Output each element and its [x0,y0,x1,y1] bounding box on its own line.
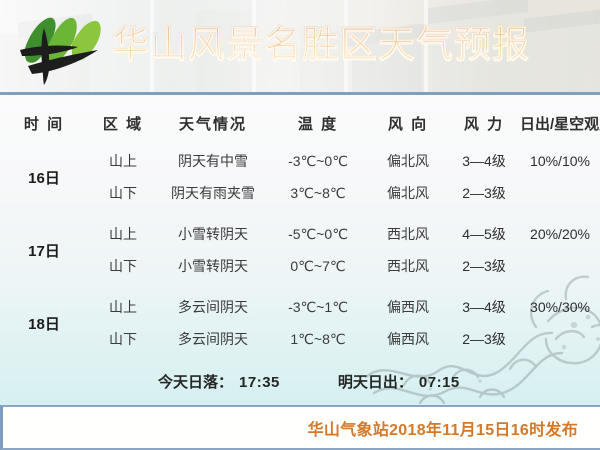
cell-area: 山下 [88,256,158,276]
sunrise-value: 07:15 [419,374,460,391]
cell-wind-direction: 偏北风 [368,151,448,171]
day-group: 18日 山上 多云间阴天 -3℃~1℃ 偏西风 3—4级 30%/30% 山下 … [0,291,600,355]
sunrise-item: 明天日出：07:15 [338,371,460,392]
day-date-label: 18日 [0,291,88,355]
sunrise-label: 明天日出： [338,374,413,391]
forecast-table: 时 间 区 域 天气情况 温 度 风 向 风 力 日出/星空观赏率 16日 山上… [0,101,600,401]
cell-wind-direction: 偏北风 [368,183,448,203]
cell-condition: 多云间阴天 [158,297,268,317]
cell-wind-force: 2—3级 [448,256,520,276]
column-header-sunrise-star: 日出/星空观赏率 [520,113,600,134]
cell-sunrise-star: 10%/10% [520,153,600,169]
cell-condition: 阴天有中雪 [158,151,268,171]
cell-wind-direction: 西北风 [368,224,448,244]
row-spacer [0,209,600,218]
cell-area: 山下 [88,329,158,349]
cell-wind-force: 3—4级 [448,297,520,317]
forecast-board: 时 间 区 域 天气情况 温 度 风 向 风 力 日出/星空观赏率 16日 山上… [0,95,600,405]
banner: 华山风景名胜区天气预报 [0,0,600,95]
table-row: 山上 阴天有中雪 -3℃~0℃ 偏北风 3—4级 10%/10% [0,145,600,177]
sunset-label: 今天日落： [158,374,233,391]
cell-wind-force: 4—5级 [448,224,520,244]
table-row: 山上 多云间阴天 -3℃~1℃ 偏西风 3—4级 30%/30% [0,291,600,323]
cell-wind-force: 2—3级 [448,183,520,203]
day-date-label: 16日 [0,145,88,209]
cell-temperature: 0℃~7℃ [268,258,368,275]
column-header-wind-force: 风 力 [448,113,520,134]
weather-forecast-card: 华山风景名胜区天气预报 [0,0,600,450]
cell-temperature: -3℃~0℃ [268,153,368,170]
cell-temperature: 3℃~8℃ [268,185,368,202]
column-header-area: 区 域 [88,113,158,134]
day-group: 16日 山上 阴天有中雪 -3℃~0℃ 偏北风 3—4级 10%/10% 山下 … [0,145,600,209]
cell-area: 山上 [88,151,158,171]
sunset-value: 17:35 [239,374,280,391]
cell-condition: 多云间阴天 [158,329,268,349]
table-row: 山下 阴天有雨夹雪 3℃~8℃ 偏北风 2—3级 [0,177,600,209]
sunset-item: 今天日落：17:35 [158,371,280,392]
page-title: 华山风景名胜区天气预报 [112,20,530,70]
cell-wind-direction: 西北风 [368,256,448,276]
day-date-label: 17日 [0,218,88,282]
table-row: 山下 小雪转阴天 0℃~7℃ 西北风 2—3级 [0,250,600,282]
cell-wind-direction: 偏西风 [368,329,448,349]
table-header-row: 时 间 区 域 天气情况 温 度 风 向 风 力 日出/星空观赏率 [0,101,600,145]
cell-wind-force: 3—4级 [448,151,520,171]
sun-times-row: 今天日落：17:35 明天日出：07:15 [0,361,600,401]
row-spacer [0,282,600,291]
huashan-calligraphy-logo-icon [14,6,118,88]
column-header-time: 时 间 [0,113,88,134]
column-header-wind-direction: 风 向 [368,113,448,134]
table-row: 山下 多云间阴天 1℃~8℃ 偏西风 2—3级 [0,323,600,355]
day-group: 17日 山上 小雪转阴天 -5℃~0℃ 西北风 4—5级 20%/20% 山下 … [0,218,600,282]
column-header-condition: 天气情况 [158,113,268,134]
footer-bar: 华山气象站2018年11月15日16时发布 [0,405,600,450]
cell-wind-force: 2—3级 [448,329,520,349]
cell-condition: 小雪转阴天 [158,224,268,244]
cell-condition: 阴天有雨夹雪 [158,183,268,203]
cell-sunrise-star: 20%/20% [520,226,600,242]
cell-condition: 小雪转阴天 [158,256,268,276]
cell-area: 山下 [88,183,158,203]
cell-area: 山上 [88,224,158,244]
table-row: 山上 小雪转阴天 -5℃~0℃ 西北风 4—5级 20%/20% [0,218,600,250]
cell-temperature: -5℃~0℃ [268,226,368,243]
cell-wind-direction: 偏西风 [368,297,448,317]
cell-sunrise-star: 30%/30% [520,299,600,315]
issuing-station-text: 华山气象站2018年11月15日16时发布 [308,416,578,440]
cell-temperature: -3℃~1℃ [268,299,368,316]
cell-temperature: 1℃~8℃ [268,331,368,348]
cell-area: 山上 [88,297,158,317]
column-header-temperature: 温 度 [268,113,368,134]
